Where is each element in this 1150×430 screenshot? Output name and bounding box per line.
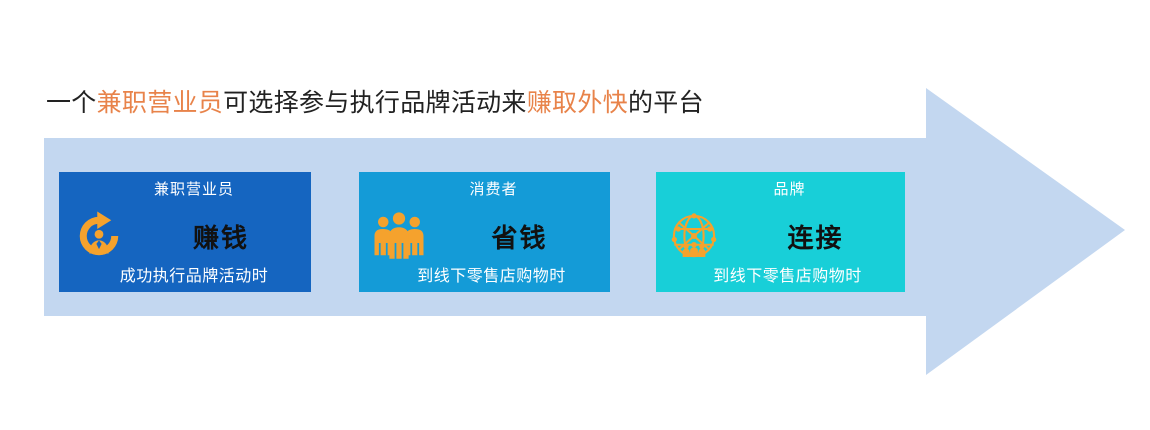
card-main-label: 连接 [726, 208, 905, 264]
card-brand[interactable]: 品牌 [656, 172, 905, 292]
people-group-icon [371, 208, 427, 264]
card-part-time-promoter[interactable]: 兼职营业员 赚钱 成功执行品牌活动时 [59, 172, 311, 292]
page-title: 一个兼职营业员可选择参与执行品牌活动来赚取外快的平台 [46, 86, 704, 120]
title-segment-5: 的平台 [628, 88, 704, 117]
card-footer-label: 到线下零售店购物时 [359, 262, 610, 286]
card-header-label: 消费者 [359, 178, 610, 199]
globe-network-people-icon [666, 208, 722, 264]
card-footer-label: 到线下零售店购物时 [656, 262, 905, 286]
slide-canvas: 一个兼职营业员可选择参与执行品牌活动来赚取外快的平台 兼职营业员 赚钱 成功执行… [0, 0, 1150, 430]
card-main-label: 赚钱 [131, 208, 311, 264]
person-circular-arrow-icon [71, 208, 127, 264]
card-main-label: 省钱 [429, 208, 610, 264]
card-consumer[interactable]: 消费者 省钱 到线下零售店购物时 [359, 172, 610, 292]
title-segment-1: 一个 [46, 88, 97, 117]
title-segment-3: 可选择参与执行品牌活动来 [223, 88, 527, 117]
card-header-label: 兼职营业员 [59, 178, 311, 199]
title-segment-2-highlight: 兼职营业员 [97, 88, 224, 117]
card-footer-label: 成功执行品牌活动时 [59, 262, 311, 286]
title-segment-4-highlight: 赚取外快 [527, 88, 628, 117]
card-header-label: 品牌 [656, 178, 905, 199]
